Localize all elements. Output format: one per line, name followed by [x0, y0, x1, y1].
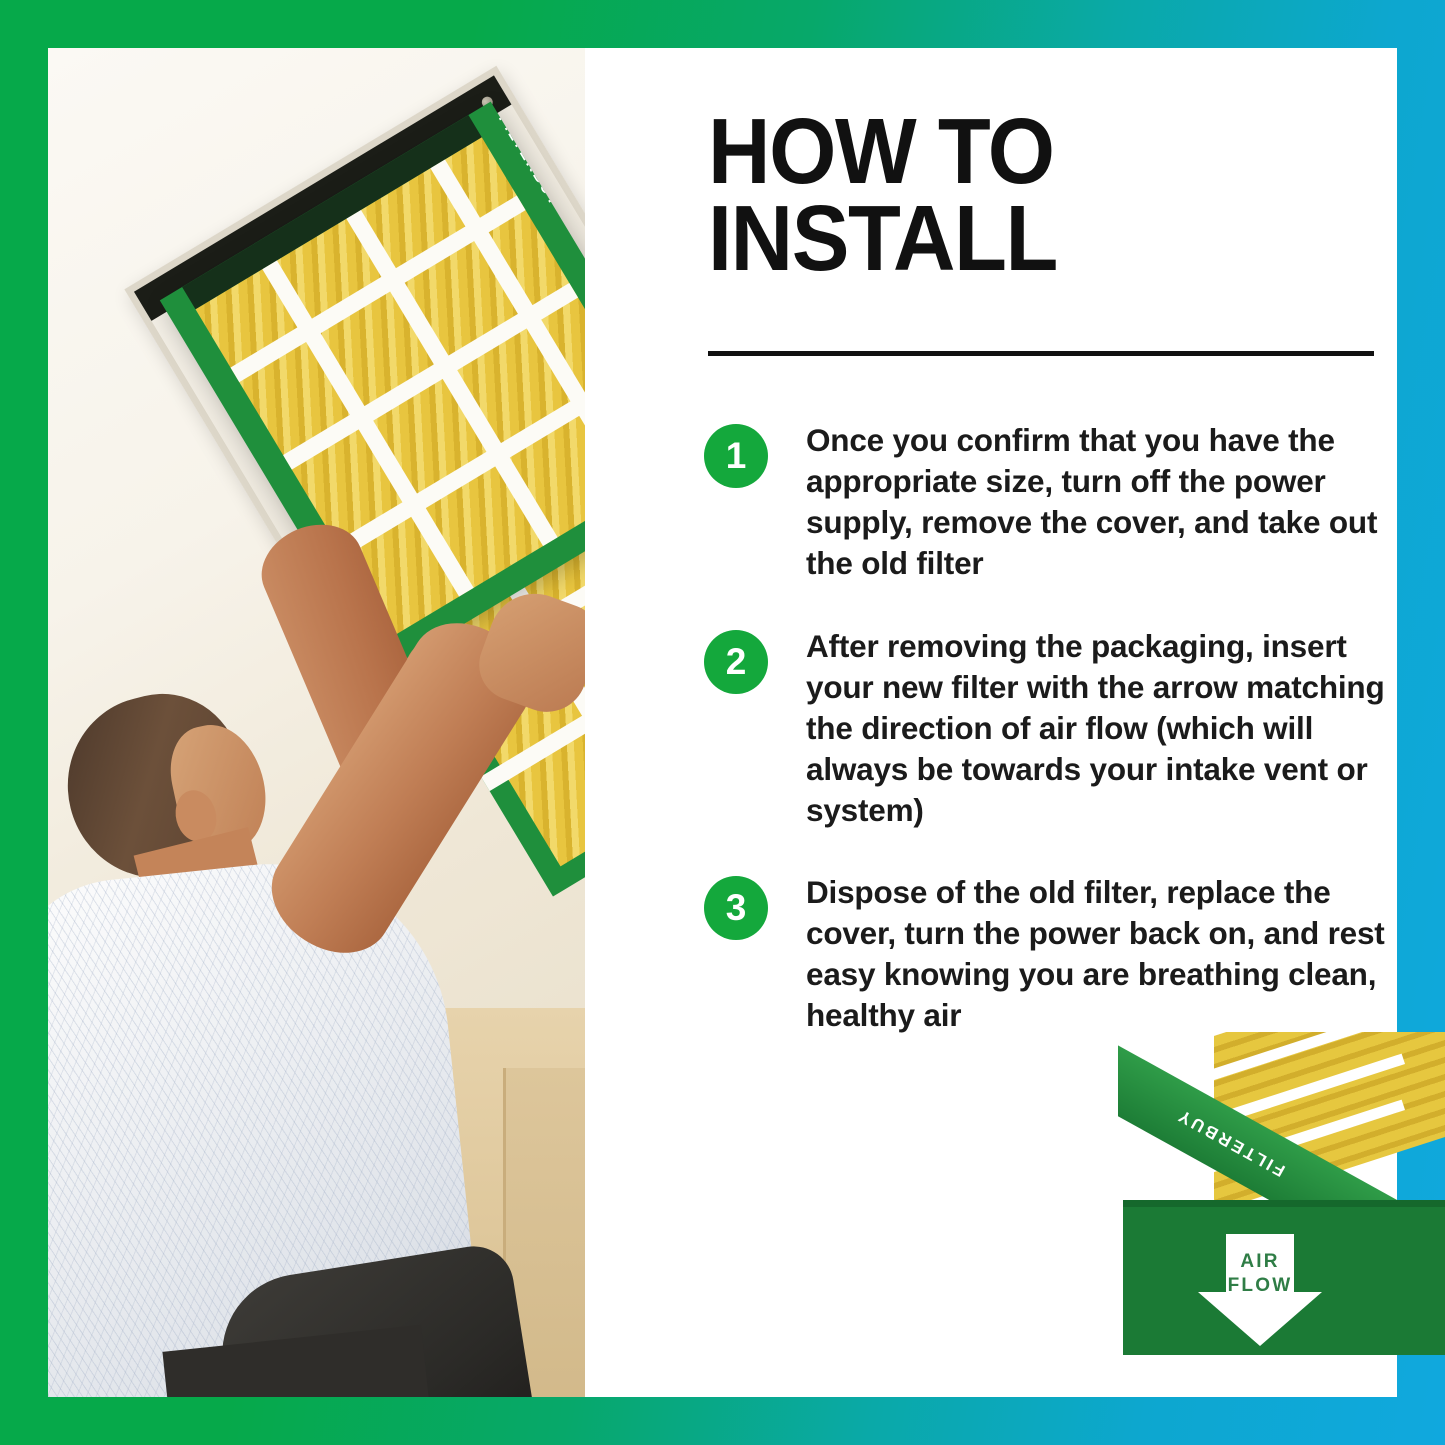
step-description: Once you confirm that you have the appro…: [806, 420, 1397, 584]
steps-list: 1 Once you confirm that you have the app…: [704, 420, 1397, 1078]
step-item: 1 Once you confirm that you have the app…: [704, 420, 1397, 584]
step-number-badge: 1: [704, 424, 768, 488]
title-divider: [708, 351, 1374, 356]
step-description: After removing the packaging, insert you…: [806, 626, 1397, 831]
page-title: HOW TO INSTALL: [708, 108, 1340, 283]
arrow-down-icon: [1192, 1234, 1328, 1346]
step-number-badge: 2: [704, 630, 768, 694]
filter-grid-line: [273, 277, 585, 476]
page-title-line-2: INSTALL: [708, 195, 1340, 282]
page-title-line-1: HOW TO: [708, 108, 1340, 195]
product-filter-image: FILTERBUY AIR FLOW: [1118, 1032, 1445, 1364]
install-photo: FILTERBUY FILTERBUY: [48, 48, 585, 1397]
air-flow-arrow: AIR FLOW: [1192, 1234, 1328, 1346]
poster-root: FILTERBUY FILTERBUY HOW TO INSTALL: [0, 0, 1445, 1445]
step-description: Dispose of the old filter, replace the c…: [806, 872, 1397, 1036]
step-number-badge: 3: [704, 876, 768, 940]
product-filter-top: FILTERBUY: [1118, 1032, 1445, 1214]
step-item: 3 Dispose of the old filter, replace the…: [704, 872, 1397, 1036]
step-item: 2 After removing the packaging, insert y…: [704, 626, 1397, 831]
